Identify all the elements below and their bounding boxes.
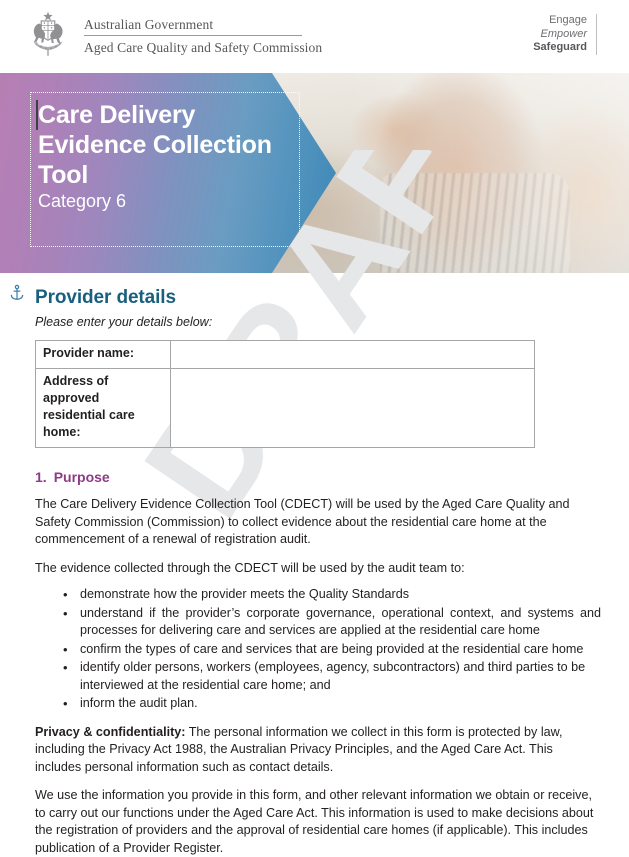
page-title: Provider details	[35, 287, 601, 309]
purpose-paragraph-2: The evidence collected through the CDECT…	[35, 560, 601, 578]
anchor-bookmark-icon	[8, 283, 26, 303]
provider-name-label: Provider name:	[36, 341, 171, 369]
purpose-number: 1.	[35, 469, 47, 485]
agency-name-text: Aged Care Quality and Safety Commission	[84, 39, 322, 56]
purpose-paragraph-1: The Care Delivery Evidence Collection To…	[35, 496, 601, 549]
australian-government-branding: Australian Government Aged Care Quality …	[22, 9, 322, 61]
provider-name-input[interactable]	[171, 341, 535, 369]
instruction-text: Please enter your details below:	[35, 315, 601, 329]
australian-coat-of-arms-icon	[22, 9, 74, 61]
document-subtitle: Category 6	[38, 190, 126, 212]
document-title: Care Delivery Evidence Collection Tool	[38, 100, 288, 190]
purpose-bullet-list: demonstrate how the provider meets the Q…	[35, 586, 601, 713]
masthead: Australian Government Aged Care Quality …	[0, 0, 629, 73]
document-content: Provider details Please enter your detai…	[35, 273, 601, 857]
tagline-safeguard: Safeguard	[533, 41, 587, 55]
list-item: understand if the provider’s corporate g…	[79, 605, 601, 640]
hero-banner: Care Delivery Evidence Collection Tool C…	[0, 73, 629, 273]
privacy-lead-label: Privacy & confidentiality:	[35, 725, 185, 739]
list-item: demonstrate how the provider meets the Q…	[79, 586, 601, 604]
table-row: Address of approved residential care hom…	[36, 369, 535, 448]
privacy-paragraph-1: Privacy & confidentiality: The personal …	[35, 724, 601, 777]
home-address-label: Address of approved residential care hom…	[36, 369, 171, 448]
home-address-input[interactable]	[171, 369, 535, 448]
list-item: confirm the types of care and services t…	[79, 641, 601, 659]
table-row: Provider name:	[36, 341, 535, 369]
tagline-engage: Engage	[533, 14, 587, 28]
provider-details-table: Provider name: Address of approved resid…	[35, 340, 535, 448]
list-item: inform the audit plan.	[79, 695, 601, 713]
list-item: identify older persons, workers (employe…	[79, 659, 601, 694]
wordmark-divider	[84, 35, 302, 36]
commission-tagline: Engage Empower Safeguard	[533, 14, 597, 55]
privacy-paragraph-2: We use the information you provide in th…	[35, 787, 601, 857]
purpose-heading: 1.Purpose	[35, 469, 601, 485]
tagline-empower: Empower	[533, 28, 587, 42]
purpose-heading-label: Purpose	[54, 469, 110, 485]
government-wordmark: Australian Government Aged Care Quality …	[84, 14, 322, 56]
australian-government-text: Australian Government	[84, 16, 322, 33]
